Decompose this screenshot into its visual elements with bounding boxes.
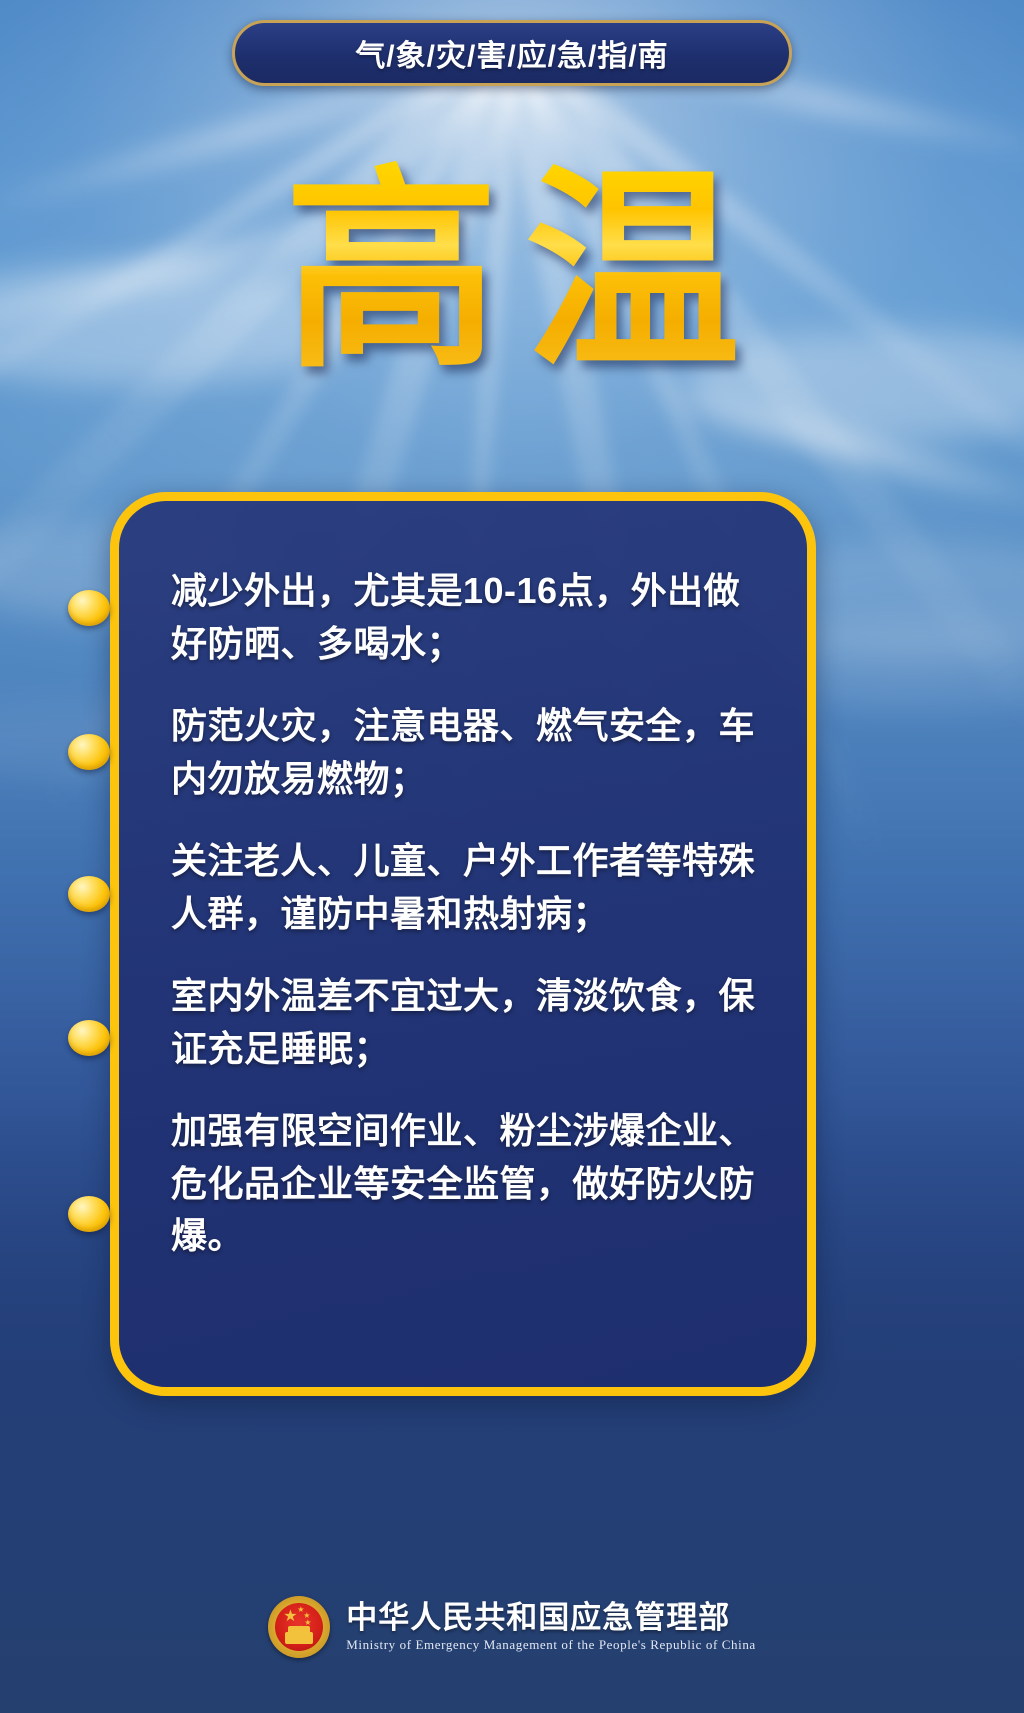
tips-list: 减少外出，尤其是10-16点，外出做好防晒、多喝水； 防范火灾，注意电器、燃气安… <box>171 565 761 1263</box>
list-item: 室内外温差不宜过大，清淡饮食，保证充足睡眠； <box>171 970 761 1075</box>
page-title: 高温 <box>0 160 1024 384</box>
footer-texts: 中华人民共和国应急管理部 Ministry of Emergency Manag… <box>346 1601 756 1652</box>
gold-ball-icon <box>68 1020 110 1056</box>
tip-text: 防范火灾，注意电器、燃气安全，车内勿放易燃物； <box>171 700 761 805</box>
list-item: 减少外出，尤其是10-16点，外出做好防晒、多喝水； <box>171 565 761 670</box>
footer: ★ ★ ★ ★ ★ 中华人民共和国应急管理部 Ministry of Emerg… <box>0 1596 1024 1658</box>
footer-org-name-en: Ministry of Emergency Management of the … <box>346 1638 756 1652</box>
poster-root: 气/象/灾/害/应/急/指/南 高温 减少外出，尤其是10-16点，外出做好防晒… <box>0 0 1024 1713</box>
tip-text: 关注老人、儿童、户外工作者等特殊人群，谨防中暑和热射病； <box>171 835 761 940</box>
emblem-star-icon: ★ <box>283 1609 297 1625</box>
tip-text: 减少外出，尤其是10-16点，外出做好防晒、多喝水； <box>171 565 761 670</box>
tips-card: 减少外出，尤其是10-16点，外出做好防晒、多喝水； 防范火灾，注意电器、燃气安… <box>110 492 816 1396</box>
header-ribbon-label: 气/象/灾/害/应/急/指/南 <box>355 31 668 75</box>
tiananmen-gate-icon <box>285 1632 313 1644</box>
tip-text: 加强有限空间作业、粉尘涉爆企业、危化品企业等安全监管，做好防火防爆。 <box>171 1105 761 1263</box>
gold-ball-icon <box>68 590 110 626</box>
tip-text: 室内外温差不宜过大，清淡饮食，保证充足睡眠； <box>171 970 761 1075</box>
gold-ball-icon <box>68 734 110 770</box>
gold-ball-icon <box>68 876 110 912</box>
china-national-emblem-icon: ★ ★ ★ ★ ★ <box>268 1596 330 1658</box>
gold-ball-icon <box>68 1196 110 1232</box>
emblem-inner: ★ ★ ★ ★ ★ <box>275 1603 323 1651</box>
list-item: 加强有限空间作业、粉尘涉爆企业、危化品企业等安全监管，做好防火防爆。 <box>171 1105 761 1263</box>
list-item: 防范火灾，注意电器、燃气安全，车内勿放易燃物； <box>171 700 761 805</box>
page-title-text: 高温 <box>258 160 766 384</box>
list-item: 关注老人、儿童、户外工作者等特殊人群，谨防中暑和热射病； <box>171 835 761 940</box>
header-ribbon: 气/象/灾/害/应/急/指/南 <box>232 20 792 86</box>
footer-org-name-cn: 中华人民共和国应急管理部 <box>346 1601 756 1635</box>
